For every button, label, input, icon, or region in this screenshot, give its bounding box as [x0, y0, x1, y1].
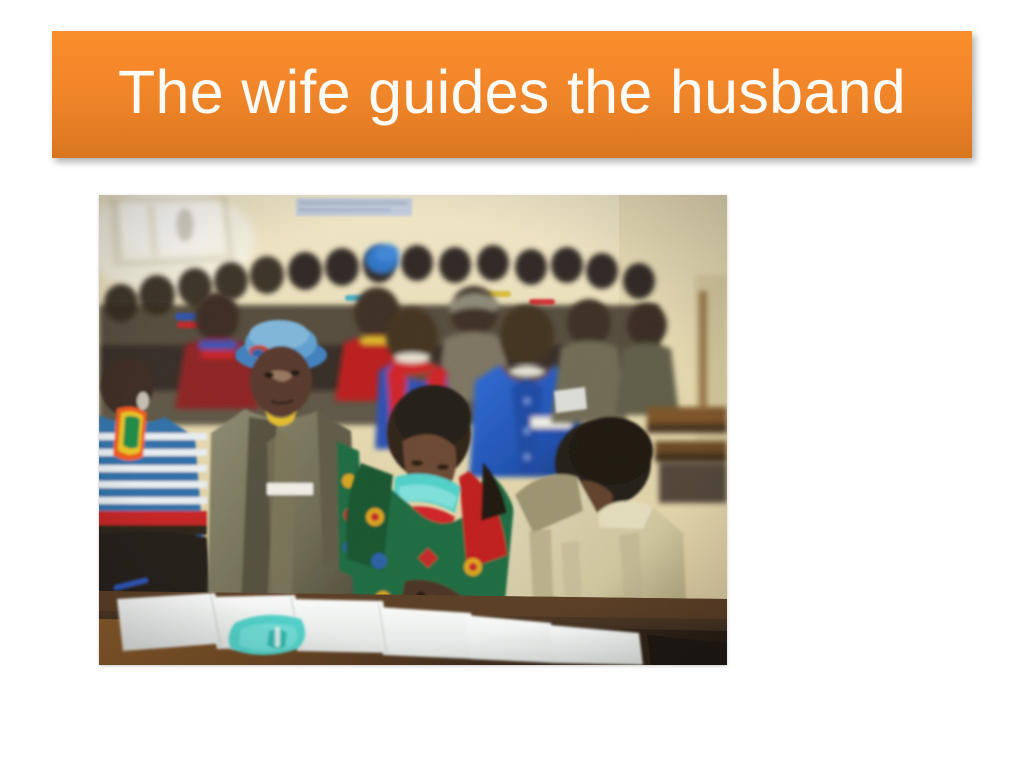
- slide-photo: A crowded classroom of adult learners se…: [99, 195, 727, 665]
- presentation-slide: The wife guides the husband A crowded cl…: [0, 0, 1024, 768]
- photo-canvas: [99, 195, 727, 665]
- page-title: The wife guides the husband: [100, 60, 924, 124]
- title-banner: The wife guides the husband: [52, 31, 972, 158]
